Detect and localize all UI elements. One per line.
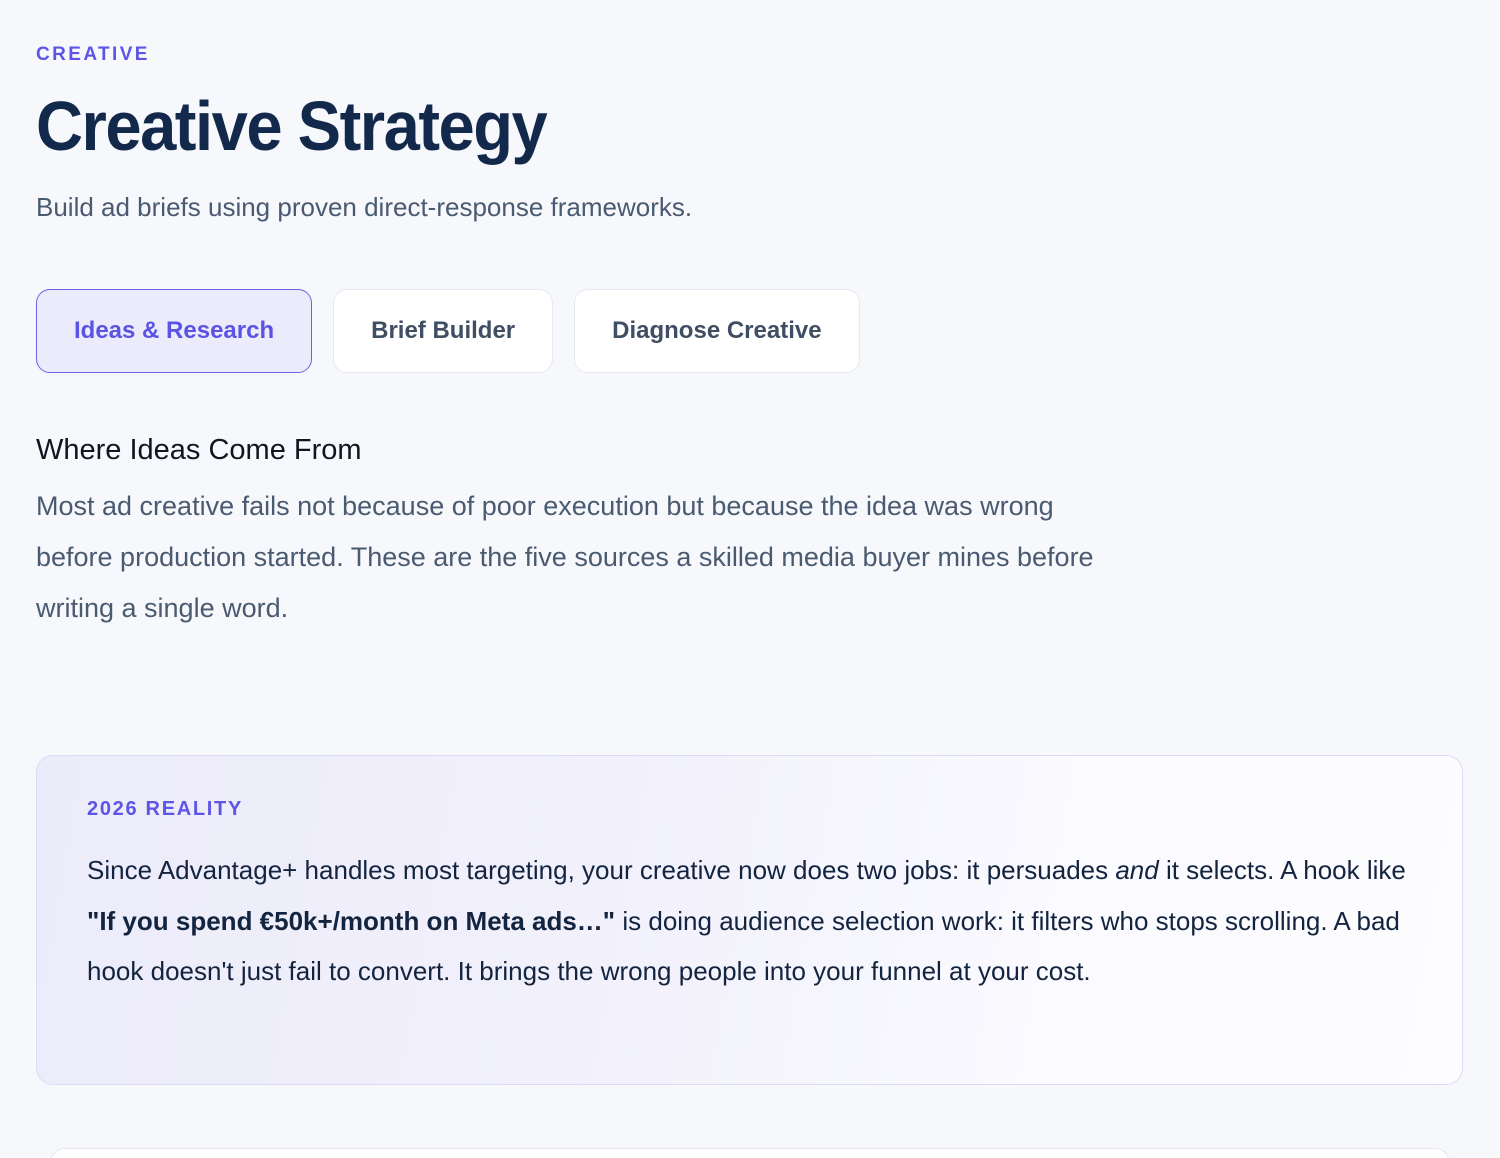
section-heading: Where Ideas Come From [36,433,1464,468]
page-eyebrow: CREATIVE [36,0,1464,64]
creative-strategy-page: CREATIVE Creative Strategy Build ad brie… [0,0,1500,1158]
reality-callout-card: 2026 REALITY Since Advantage+ handles mo… [36,755,1463,1085]
tab-label: Brief Builder [371,317,515,345]
section-body-text: Most ad creative fails not because of po… [36,467,1116,634]
next-section-card[interactable] [50,1148,1450,1158]
callout-body-text: Since Advantage+ handles most targeting,… [87,819,1416,997]
callout-hook-quote: "If you spend €50k+/month on Meta ads…" [87,906,615,936]
tab-bar: Ideas & Research Brief Builder Diagnose … [36,225,1464,373]
tab-diagnose-creative[interactable]: Diagnose Creative [574,289,859,373]
tab-brief-builder[interactable]: Brief Builder [333,289,553,373]
tab-ideas-and-research[interactable]: Ideas & Research [36,289,312,373]
callout-text-segment: Since Advantage+ handles most targeting,… [87,855,1115,885]
tab-label: Ideas & Research [74,317,274,345]
callout-emphasis: and [1115,855,1158,885]
page-subtitle: Build ad briefs using proven direct-resp… [36,163,1464,225]
where-ideas-come-from-section: Where Ideas Come From Most ad creative f… [36,373,1464,635]
tab-label: Diagnose Creative [612,317,821,345]
page-title: Creative Strategy [36,64,1364,163]
callout-label: 2026 REALITY [87,799,1416,819]
callout-text-segment: it selects. A hook like [1159,855,1406,885]
